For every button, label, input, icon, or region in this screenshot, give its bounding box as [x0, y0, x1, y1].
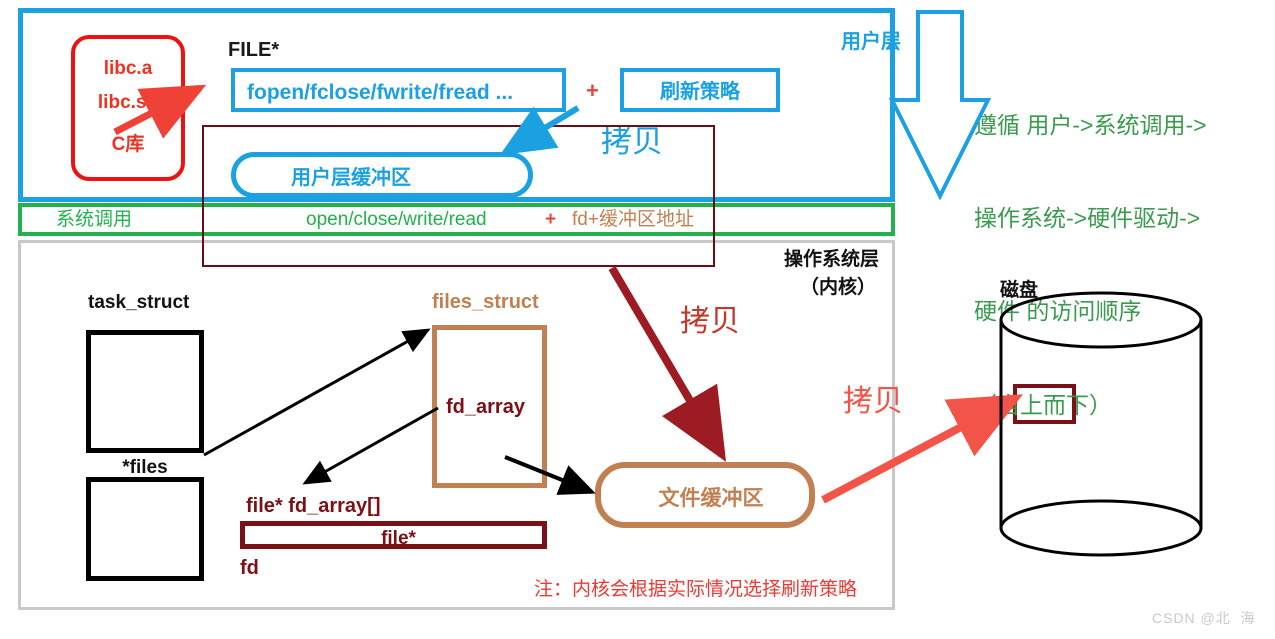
task-struct-files-cell: *files: [86, 448, 204, 482]
access-order-line-3: 硬件 的访问顺序: [974, 296, 1207, 327]
files-struct-title: files_struct: [432, 291, 539, 313]
c-library-label: C库: [75, 135, 181, 156]
syscall-layer-label: 系统调用: [56, 210, 132, 231]
fd-array-table-title: file* fd_array[]: [246, 495, 381, 517]
copy-label-kernel: 拷贝: [680, 305, 740, 338]
access-order-line-2: 操作系统->硬件驱动->: [974, 203, 1207, 234]
file-star-label: FILE*: [228, 39, 279, 61]
access-order-line-4: （自上而下）: [974, 390, 1207, 421]
copy-label-disk: 拷贝: [843, 385, 903, 418]
libc-so-label: libc.so: [75, 93, 181, 114]
libc-a-label: libc.a: [75, 59, 181, 80]
user-layer-label: 用户层: [841, 31, 901, 53]
task-struct-title: task_struct: [88, 293, 189, 314]
flush-policy-label: 刷新策略: [660, 81, 740, 103]
access-order-annotation: 遵循 用户->系统调用-> 操作系统->硬件驱动-> 硬件 的访问顺序 （自上而…: [974, 48, 1207, 483]
files-pointer-label: *files: [86, 458, 204, 479]
access-order-line-1: 遵循 用户->系统调用->: [974, 110, 1207, 141]
file-buffer-label: 文件缓冲区: [601, 487, 821, 510]
flush-policy-box: 刷新策略: [620, 68, 780, 112]
stdio-api-box: fopen/fclose/fwrite/fread ...: [231, 68, 566, 112]
fd-array-table-box: file*: [240, 521, 547, 549]
os-layer-label: 操作系统层: [784, 250, 879, 271]
libc-box: libc.a libc.so C库: [71, 35, 185, 181]
os-layer-kernel-label: （内核）: [800, 278, 876, 299]
csdn-watermark: CSDN @北 海: [1152, 611, 1256, 626]
user-plus-symbol: +: [586, 79, 599, 103]
stdio-api-label: fopen/fclose/fwrite/fread ...: [247, 81, 513, 104]
fd-index-label: fd: [240, 557, 259, 579]
kernel-note: 注：内核会根据实际情况选择刷新策略: [534, 580, 857, 601]
copy-path-rect: [202, 125, 715, 267]
diagram-canvas: libc.a libc.so C库 FILE* fopen/fclose/fwr…: [0, 0, 1275, 639]
fd-array-label: fd_array: [446, 396, 525, 418]
file-buffer-box: 文件缓冲区: [595, 462, 815, 528]
fd-array-cell-label: file*: [245, 529, 552, 550]
